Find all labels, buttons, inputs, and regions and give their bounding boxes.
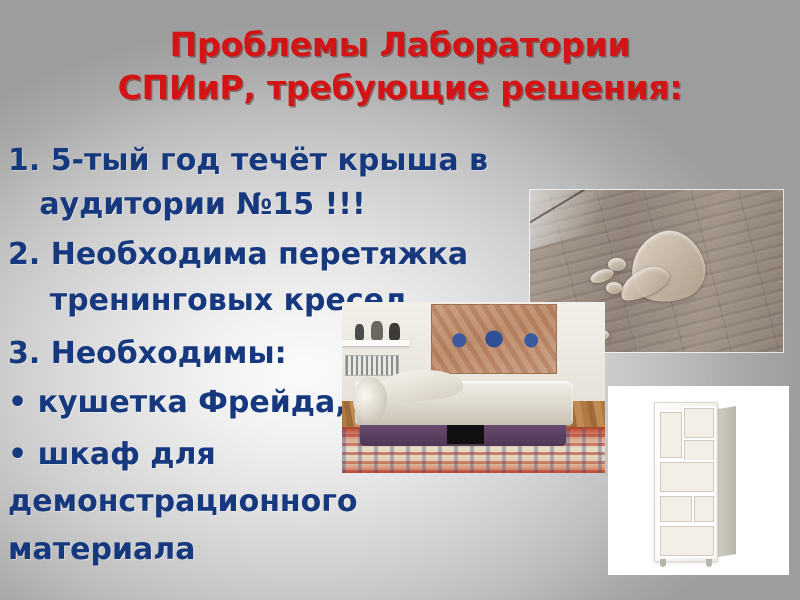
cabinet-foot xyxy=(706,559,712,567)
radiator xyxy=(345,355,400,376)
body-line: 1. 5-тый год течёт крыша в xyxy=(8,146,488,176)
couch-photo-inner xyxy=(342,302,605,473)
cabinet-glass-pane xyxy=(658,494,694,524)
cabinet-glass-pane xyxy=(658,410,684,460)
wall-shelf xyxy=(342,340,410,347)
slide-title: Проблемы Лаборатории СПИиР, требующие ре… xyxy=(50,24,750,110)
cabinet-photo-inner xyxy=(608,386,789,575)
cabinet-glass-pane xyxy=(658,460,716,494)
body-line: материала xyxy=(8,535,195,565)
shelf-ornament xyxy=(371,321,383,340)
shelf-ornament xyxy=(389,323,400,340)
body-line: аудитории №15 !!! xyxy=(8,190,366,220)
couch-base-gap xyxy=(447,423,484,444)
body-line: • кушетка Фрейда, xyxy=(8,388,347,418)
shelf-ornament xyxy=(355,324,364,339)
body-line: 2. Необходима перетяжка xyxy=(8,240,468,270)
photo-freud-couch xyxy=(342,302,605,473)
cabinet-glass-pane xyxy=(692,494,716,524)
cabinet-glass-pane xyxy=(682,406,716,440)
water-droplet xyxy=(606,282,622,294)
photo-display-cabinet xyxy=(608,386,789,575)
cabinet-glass-pane xyxy=(658,524,716,558)
cabinet-foot xyxy=(660,559,666,567)
body-line: • шкаф для xyxy=(8,440,216,470)
couch-bolster xyxy=(353,377,387,421)
presentation-slide: Проблемы Лаборатории СПИиР, требующие ре… xyxy=(0,0,800,600)
body-line: 3. Необходимы: xyxy=(8,339,287,369)
wall-tapestry xyxy=(431,304,557,374)
body-line: демонстрационного xyxy=(8,487,358,517)
